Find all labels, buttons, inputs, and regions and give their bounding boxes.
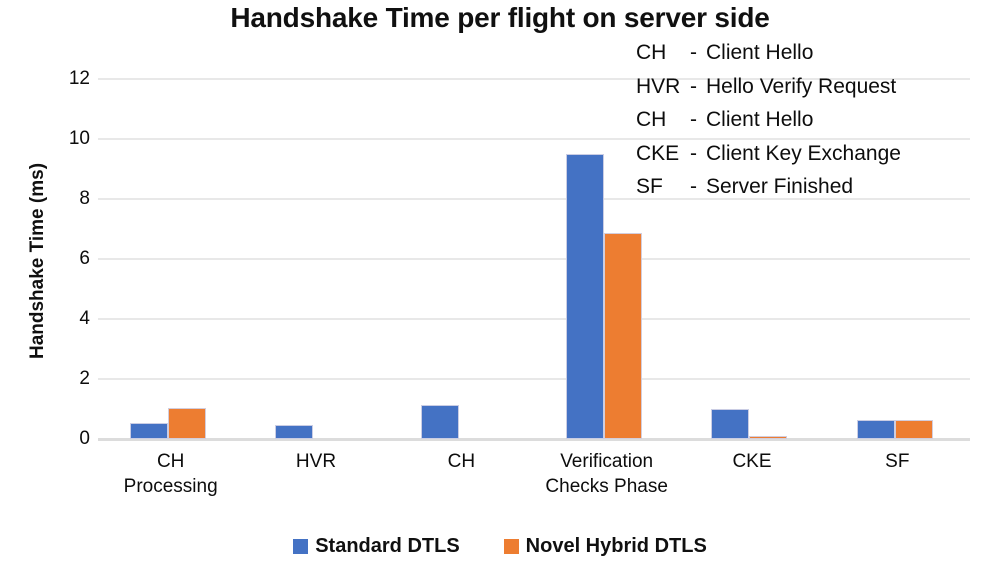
bar-group	[98, 79, 243, 439]
bar	[711, 409, 749, 439]
abbreviation-dash: -	[690, 103, 706, 137]
x-axis-label-line: Checks Phase	[534, 474, 679, 499]
bar	[566, 154, 604, 439]
abbreviation-row: CH-Client Hello	[636, 36, 1000, 70]
chart-legend: Standard DTLSNovel Hybrid DTLS	[0, 535, 1000, 558]
chart-title: Handshake Time per flight on server side	[0, 2, 1000, 34]
bar	[168, 408, 206, 440]
bar	[275, 425, 313, 439]
bar-chart: Handshake Time per flight on server side…	[0, 0, 1000, 578]
abbreviation-text: Hello Verify Request	[706, 75, 896, 98]
legend-swatch-icon	[293, 539, 308, 554]
y-tick-label: 10	[30, 128, 90, 150]
abbreviation-row: HVR-Hello Verify Request	[636, 70, 1000, 104]
bar	[857, 420, 895, 439]
x-axis-label: SF	[825, 449, 970, 474]
bar	[421, 405, 459, 439]
y-tick-label: 0	[30, 428, 90, 450]
abbreviation-dash: -	[690, 36, 706, 70]
bar	[130, 423, 168, 440]
abbreviation-dash: -	[690, 137, 706, 171]
x-axis-label-line: CH	[98, 449, 243, 474]
abbreviation-row: CKE-Client Key Exchange	[636, 137, 1000, 171]
abbreviation-code: HVR	[636, 70, 690, 104]
abbreviation-code: CH	[636, 36, 690, 70]
abbreviation-key: CH-Client HelloHVR-Hello Verify RequestC…	[636, 36, 1000, 204]
abbreviation-row: SF-Server Finished	[636, 170, 1000, 204]
abbreviation-text: Server Finished	[706, 175, 853, 198]
x-axis-label: VerificationChecks Phase	[534, 449, 679, 499]
abbreviation-text: Client Hello	[706, 41, 813, 64]
x-axis-label-line: HVR	[243, 449, 388, 474]
x-axis-category-labels: CHProcessingHVRCHVerificationChecks Phas…	[98, 449, 970, 519]
y-tick-label: 6	[30, 248, 90, 270]
bar	[749, 436, 787, 439]
x-axis-label-line: CH	[389, 449, 534, 474]
y-tick-label: 12	[30, 68, 90, 90]
abbreviation-text: Client Hello	[706, 108, 813, 131]
x-axis-label-line: Processing	[98, 474, 243, 499]
legend-label: Novel Hybrid DTLS	[526, 535, 707, 558]
x-axis-label: CHProcessing	[98, 449, 243, 499]
x-axis-label-line: SF	[825, 449, 970, 474]
abbreviation-code: CKE	[636, 137, 690, 171]
abbreviation-dash: -	[690, 170, 706, 204]
bar	[895, 420, 933, 439]
bar	[604, 233, 642, 439]
legend-item[interactable]: Standard DTLS	[293, 535, 459, 558]
y-tick-label: 2	[30, 368, 90, 390]
y-tick-label: 8	[30, 188, 90, 210]
abbreviation-code: SF	[636, 170, 690, 204]
abbreviation-row: CH-Client Hello	[636, 103, 1000, 137]
abbreviation-code: CH	[636, 103, 690, 137]
bar-group	[243, 79, 388, 439]
y-tick-label: 4	[30, 308, 90, 330]
legend-swatch-icon	[504, 539, 519, 554]
bar-group	[389, 79, 534, 439]
x-axis-label-line: Verification	[534, 449, 679, 474]
x-axis-label: CKE	[679, 449, 824, 474]
abbreviation-dash: -	[690, 70, 706, 104]
x-axis-label: HVR	[243, 449, 388, 474]
legend-label: Standard DTLS	[315, 535, 459, 558]
legend-item[interactable]: Novel Hybrid DTLS	[504, 535, 707, 558]
x-axis-label-line: CKE	[679, 449, 824, 474]
x-axis-label: CH	[389, 449, 534, 474]
abbreviation-text: Client Key Exchange	[706, 142, 901, 165]
